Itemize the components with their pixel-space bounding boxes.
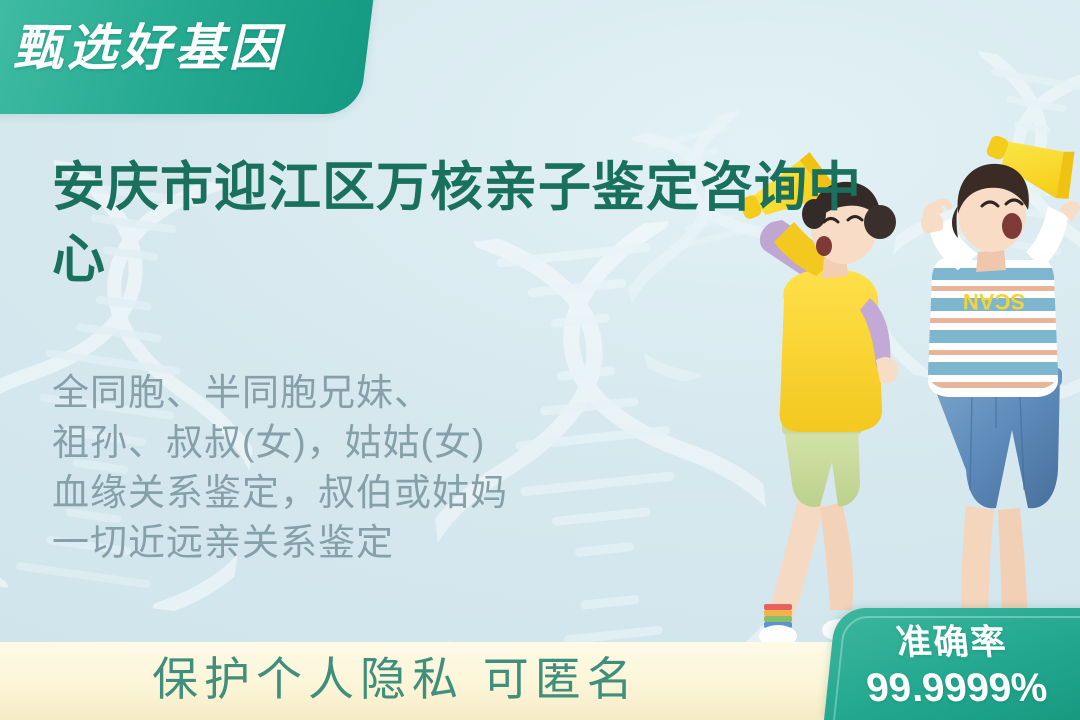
accuracy-value: 99.9999% bbox=[847, 664, 1067, 712]
service-line: 血缘关系鉴定，叔伯或姑妈 bbox=[52, 468, 572, 518]
service-line: 一切近远亲关系鉴定 bbox=[52, 518, 572, 568]
accuracy-badge-content: 准确率 99.9999% bbox=[842, 622, 1066, 712]
poster-canvas: SCAN bbox=[0, 0, 1080, 720]
page-title: 安庆市迎江区万核亲子鉴定咨询中心 bbox=[52, 152, 862, 296]
service-line: 全同胞、半同胞兄妹、 bbox=[52, 368, 572, 418]
privacy-banner-text: 保护个人隐私 可匿名 bbox=[152, 652, 639, 706]
service-line: 祖孙、叔叔(女)，姑姑(女) bbox=[52, 418, 572, 468]
logo-text: 甄选好基因 bbox=[13, 8, 283, 80]
service-description: 全同胞、半同胞兄妹、 祖孙、叔叔(女)，姑姑(女) 血缘关系鉴定，叔伯或姑妈 一… bbox=[52, 368, 572, 568]
svg-text:SCAN: SCAN bbox=[963, 289, 1025, 314]
logo-banner: 甄选好基因 bbox=[0, 0, 375, 114]
accuracy-label: 准确率 bbox=[842, 622, 1061, 664]
